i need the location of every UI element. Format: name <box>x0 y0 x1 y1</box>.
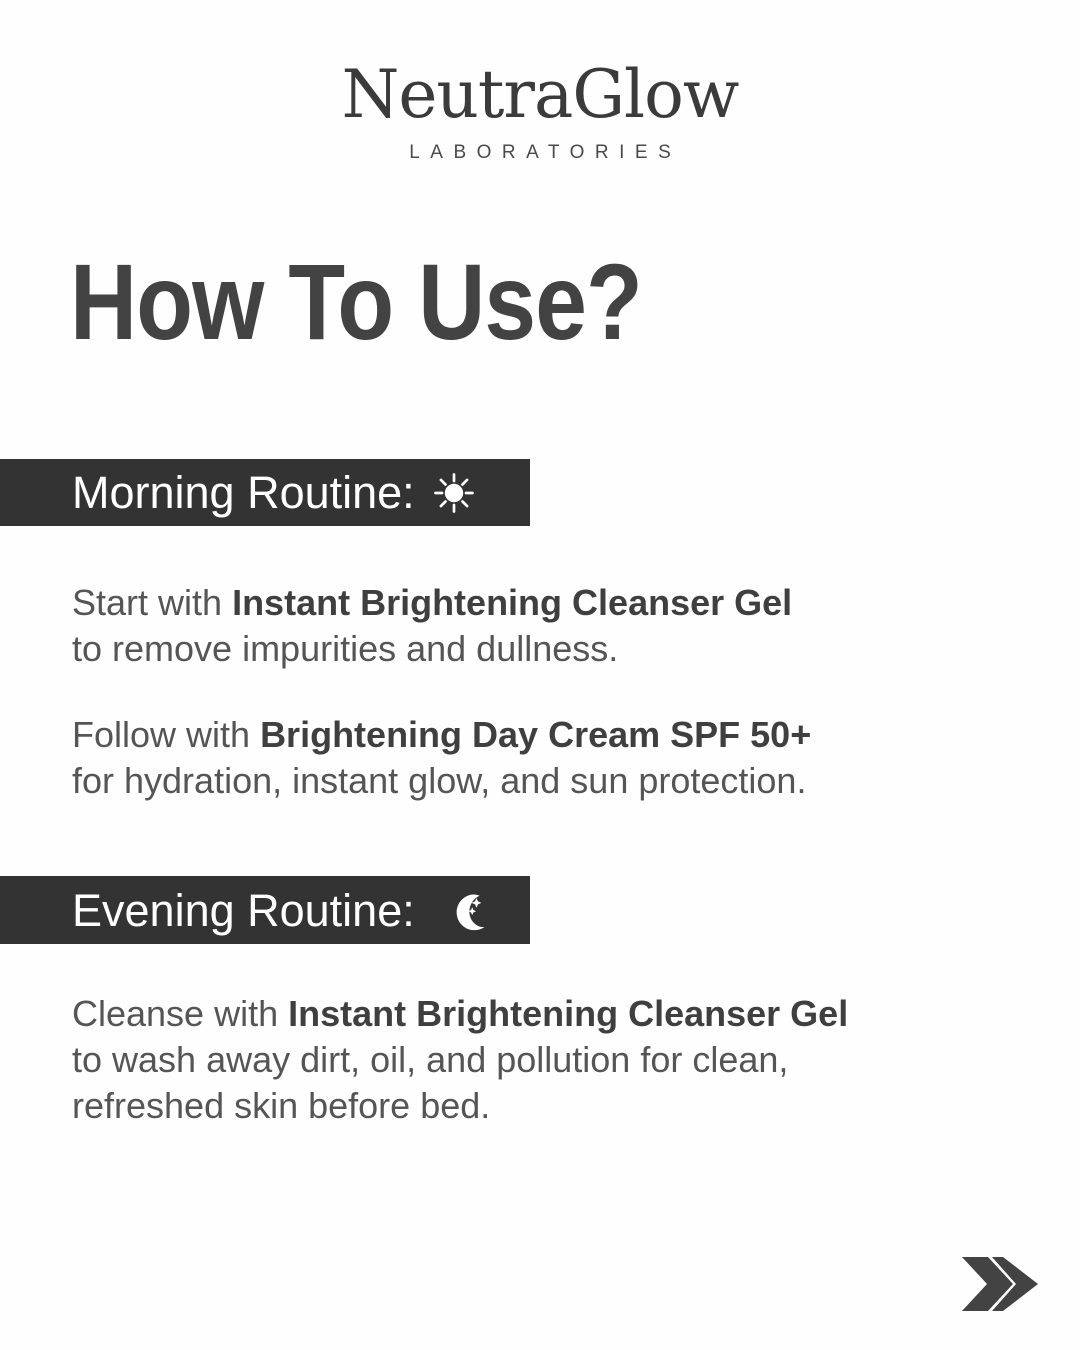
brand-tagline: LABORATORIES <box>0 142 1080 164</box>
section-header-morning: Morning Routine: <box>0 459 530 526</box>
section-header-morning-label: Morning Routine: <box>72 470 415 515</box>
brand-logo: NeutraGlow LABORATORIES <box>0 62 1080 164</box>
morning-step-2-lead: Follow with <box>72 714 260 755</box>
section-header-evening: Evening Routine: <box>0 876 530 944</box>
morning-step-1: Start with Instant Brightening Cleanser … <box>72 580 792 672</box>
how-to-use-card: NeutraGlow LABORATORIES How To Use? Morn… <box>0 0 1080 1350</box>
morning-step-2: Follow with Brightening Day Cream SPF 50… <box>72 712 811 804</box>
page-title: How To Use? <box>70 248 642 356</box>
evening-step-1-tail: to wash away dirt, oil, and pollution fo… <box>72 1039 788 1126</box>
section-header-evening-label: Evening Routine: <box>72 888 415 933</box>
evening-step-1-product: Instant Brightening Cleanser Gel <box>288 993 848 1034</box>
morning-step-2-tail: for hydration, instant glow, and sun pro… <box>72 760 806 801</box>
brand-name: NeutraGlow <box>0 62 1080 128</box>
morning-step-1-lead: Start with <box>72 582 232 623</box>
morning-step-2-product: Brightening Day Cream SPF 50+ <box>260 714 811 755</box>
moon-stars-icon <box>445 887 491 933</box>
evening-step-1: Cleanse with Instant Brightening Cleanse… <box>72 991 848 1129</box>
sun-icon <box>431 470 477 516</box>
evening-step-1-lead: Cleanse with <box>72 993 288 1034</box>
morning-step-1-tail: to remove impurities and dullness. <box>72 628 618 669</box>
double-chevron-right-icon[interactable] <box>960 1253 1040 1315</box>
morning-step-1-product: Instant Brightening Cleanser Gel <box>232 582 792 623</box>
